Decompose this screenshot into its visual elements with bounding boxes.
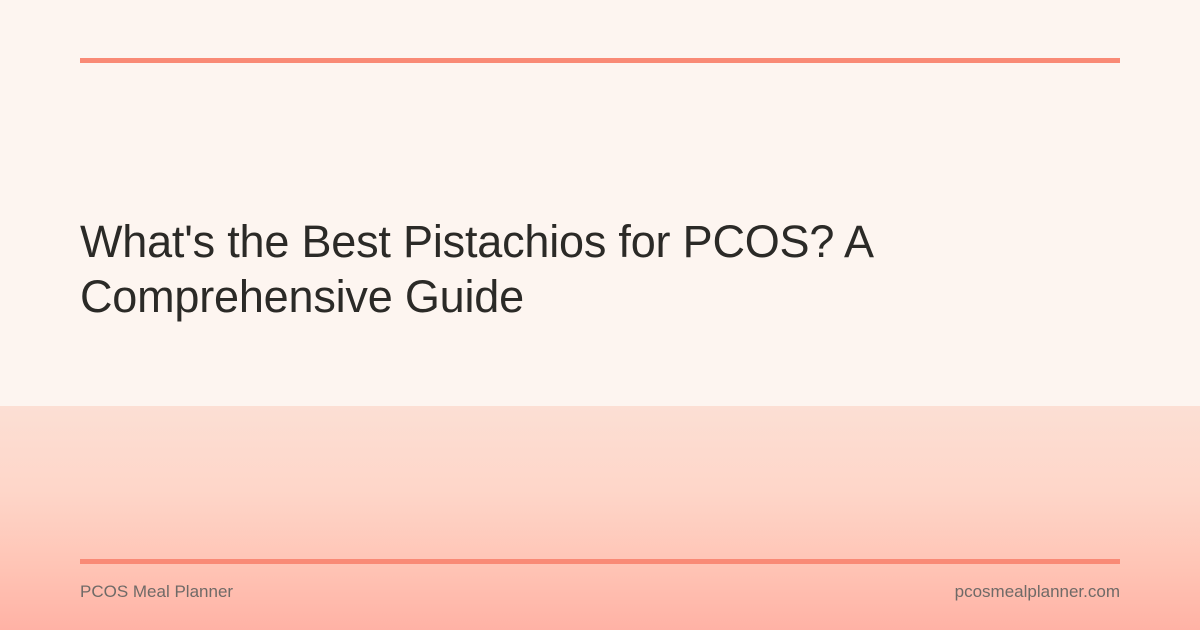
og-card: What's the Best Pistachios for PCOS? A C… (0, 0, 1200, 630)
top-accent-rule (80, 58, 1120, 63)
footer: PCOS Meal Planner pcosmealplanner.com (80, 578, 1120, 606)
footer-brand-name: PCOS Meal Planner (80, 580, 233, 604)
title-container: What's the Best Pistachios for PCOS? A C… (80, 214, 1030, 324)
page-title: What's the Best Pistachios for PCOS? A C… (80, 214, 1030, 324)
footer-site-url: pcosmealplanner.com (955, 580, 1120, 604)
footer-divider-rule (80, 559, 1120, 564)
